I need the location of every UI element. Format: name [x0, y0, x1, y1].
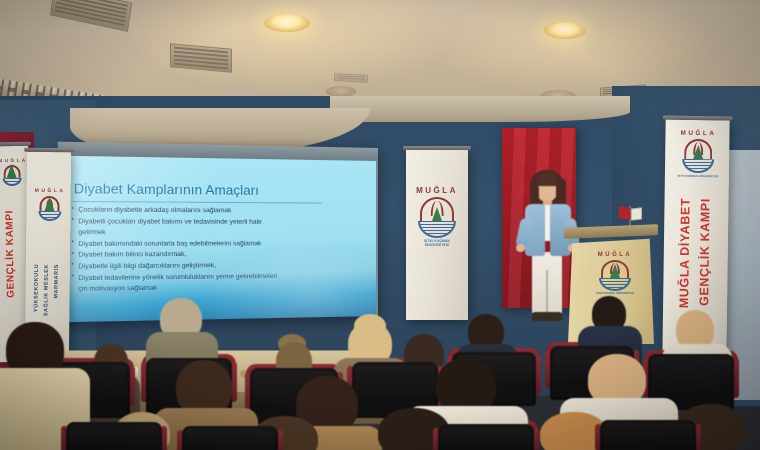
crest-left-outer: MUĞLA	[0, 158, 25, 186]
crest-right: MUĞLA SITKI KOÇMAN ÜNİVERSİTESİ	[677, 130, 720, 179]
crest-wordmark: MUĞLA	[677, 130, 719, 138]
chair[interactable]	[182, 426, 278, 450]
presenter-glasses	[538, 186, 556, 190]
slide-bullet-list: Çocukların diyabetle arkadaş olmalarını …	[71, 205, 372, 296]
chair-arm	[130, 366, 135, 406]
ceiling-light	[264, 14, 310, 32]
chair-arm	[232, 362, 237, 402]
slide-bullet-continuation: çin motivasyon sağlamak	[71, 281, 372, 295]
banner-rod	[663, 116, 733, 121]
slide-bullet: Diyabetli çocukları diyabet bakımı ve te…	[71, 217, 372, 227]
banner-rod	[403, 146, 471, 150]
crest-water	[2, 178, 21, 186]
slide-bullet: Diyabet bakımındaki sorunlarla baş edebi…	[71, 239, 372, 250]
crest-wordmark: MUĞLA	[592, 252, 638, 258]
banner-rod	[0, 142, 31, 147]
crest-tree-icon	[6, 164, 16, 178]
presentation-slide: Diyabet Kamplarının Amaçları Çocukların …	[60, 156, 376, 323]
chair-arm	[536, 356, 541, 395]
chair[interactable]	[66, 422, 162, 450]
crest-tree-icon	[432, 207, 442, 221]
banner-center-university: MUĞLA SITKI KOÇMAN ÜNİVERSİTESİ	[406, 150, 468, 320]
presenter-hand-left	[516, 244, 525, 252]
conference-hall-photo: Diyabet Kamplarının Amaçları Çocukların …	[0, 0, 760, 450]
desk-flag	[618, 206, 642, 226]
crest-water	[38, 211, 61, 221]
banner-right-line2: GENÇLİK KAMPI	[697, 198, 713, 306]
desk-flag-red	[619, 206, 630, 220]
crest-wordmark: MUĞLA	[0, 158, 24, 163]
chair-arm	[162, 426, 167, 450]
slide-title-underline	[71, 201, 321, 204]
crest-tree-icon	[44, 197, 54, 211]
banner-rod	[24, 148, 74, 153]
banner-left-outer-text: GENÇLİK KAMPI	[4, 210, 17, 298]
crest-water	[599, 278, 631, 291]
chair-arm	[534, 428, 539, 450]
crest-subtitle: SITKI KOÇMAN ÜNİVERSİTESİ	[677, 174, 719, 179]
banner-left-inner-line1: MARMARİS	[54, 264, 60, 299]
slide-bullet: Diyabet bakım bilinci kazandırmak,	[71, 249, 372, 260]
crest-wordmark: MUĞLA	[35, 188, 65, 194]
chair[interactable]	[600, 420, 696, 450]
crest-wordmark: MUĞLA	[413, 186, 461, 195]
chair-arm	[278, 430, 283, 450]
ceiling-light	[544, 22, 586, 39]
soffit	[330, 96, 630, 122]
chair-arm	[734, 358, 739, 398]
audience	[0, 300, 760, 450]
chair-arm	[696, 424, 701, 450]
crest-subtitle: SITKI KOÇMAN ÜNİVERSİTESİ	[592, 292, 638, 295]
slide-bullet: Çocukların diyabetle arkadaş olmalarını …	[71, 205, 372, 216]
chair[interactable]	[438, 424, 534, 450]
crest-left-inner: MUĞLA	[34, 188, 64, 221]
crest-podium: MUĞLA SITKI KOÇMAN ÜNİVERSİTESİ	[592, 252, 638, 295]
ceiling-vent	[334, 73, 368, 83]
projection-screen: Diyabet Kamplarının Amaçları Çocukların …	[58, 142, 378, 323]
crest-center: MUĞLA SITKI KOÇMAN ÜNİVERSİTESİ	[413, 186, 461, 247]
crest-subtitle: SITKI KOÇMAN ÜNİVERSİTESİ	[413, 239, 461, 247]
desk-flag-white	[631, 207, 642, 220]
crest-tree-icon	[693, 145, 703, 159]
crest-tree-icon	[610, 264, 620, 278]
crest-water	[682, 159, 714, 173]
slide-bullet-continuation: getirmek	[71, 228, 372, 238]
banner-right-line1: MUĞLA DİYABET	[677, 198, 693, 309]
crest-water	[418, 221, 456, 238]
slide-title: Diyabet Kamplarının Amaçları	[74, 182, 259, 198]
